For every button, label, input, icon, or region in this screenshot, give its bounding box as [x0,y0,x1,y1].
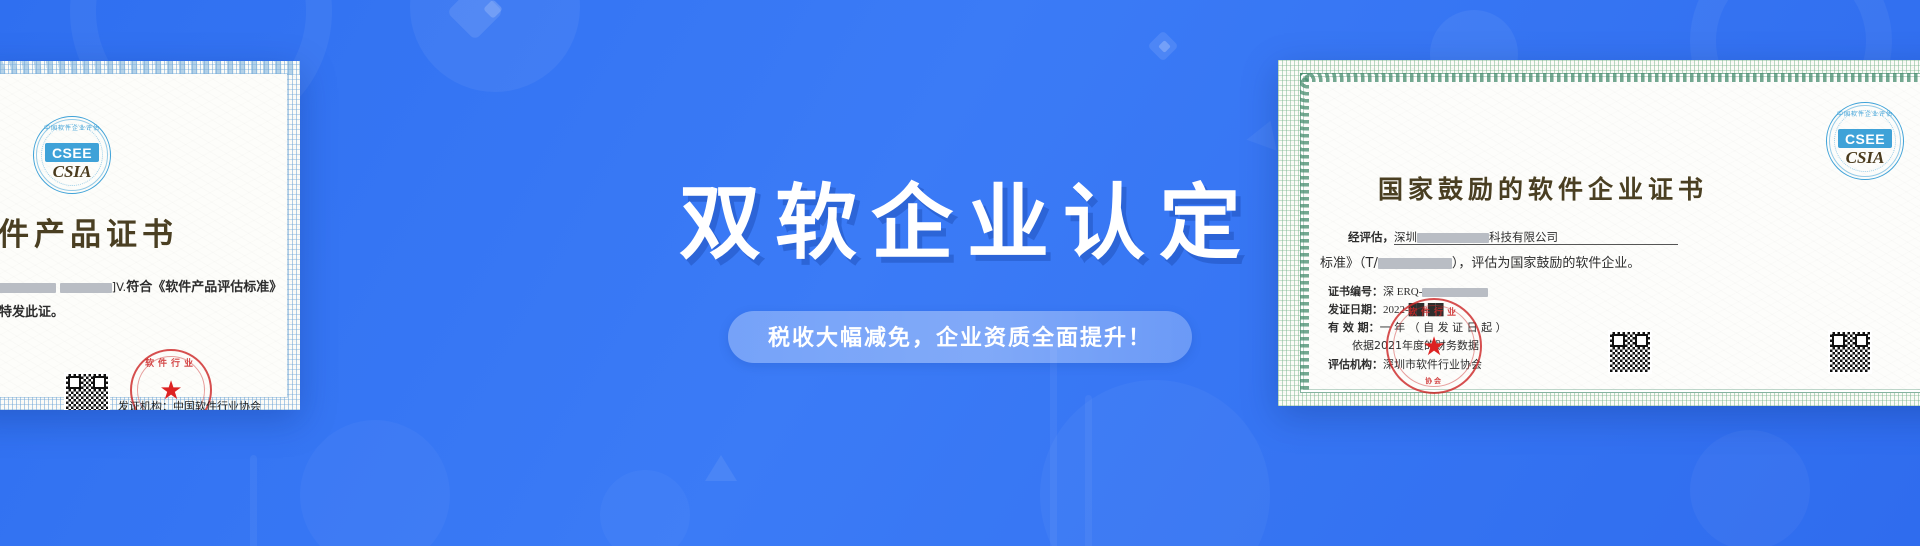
logo-arc-top-text: 中国软件企业评估 [1827,109,1903,118]
company-suffix: 科技有限公司 [1489,230,1558,244]
qr-code-icon [1608,330,1652,374]
redacted-text: █████████ [1422,288,1488,297]
right-cert-body-line-2: 标准》（T/██ ████-████），评估为国家鼓励的软件企业。 [1320,252,1640,271]
seal-star-icon: ★ [1422,333,1445,359]
seal-top-text: 软件行业 [1388,305,1480,318]
line2-prefix: 标准》（T/ [1320,256,1378,271]
red-official-seal: 软件行业 ★ 协会 [1386,298,1482,394]
redacted-text: ██ ████-████ [1378,258,1452,269]
validity-label: 有 效 期： [1328,321,1380,334]
seal-bottom-text: 协会 [1388,376,1480,386]
line2-suffix: ），评估为国家鼓励的软件企业。 [1452,256,1641,271]
guilloche-lace-left [1300,73,1309,393]
logo-mark-text: CSEE [1838,129,1892,148]
right-certificate-title: 国家鼓励的软件企业证书 [1378,170,1708,206]
right-cert-body-line-1: 经评估，深圳███████科技有限公司 [1348,229,1678,245]
org-label: 评估机构： [1328,358,1383,371]
right-cert-field-cert-no: 证书编号：深 ERQ-█████████ [1328,283,1488,299]
page-title: 双软企业认定 [665,183,1255,265]
logo-submark-text: CSIA [1827,148,1903,168]
cert-no-value-prefix: 深 ERQ- [1383,286,1422,298]
subtitle-pill: 税收大幅减免，企业资质全面提升！ [728,311,1192,363]
promo-banner: 中国软件企业评估 CSEE CSIA 软件产品证书 软件[简称：████████… [0,0,1920,546]
issue-date-label: 发证日期： [1328,303,1383,316]
company-prefix: 深圳 [1394,230,1417,244]
line1-prefix: 经评估， [1348,230,1394,244]
guilloche-lace-top [1300,73,1920,82]
redacted-text: ███████ [1417,233,1489,243]
csee-csia-logo: 中国软件企业评估 CSEE CSIA [1826,102,1904,180]
right-certificate-image: 中国软件企业评估 CSEE CSIA 国家鼓励的软件企业证书 经评估，深圳███… [1278,60,1920,406]
cert-no-label: 证书编号： [1328,285,1383,298]
qr-code-icon [1828,330,1872,374]
line1-underlined-company: 深圳███████科技有限公司 [1394,230,1678,245]
